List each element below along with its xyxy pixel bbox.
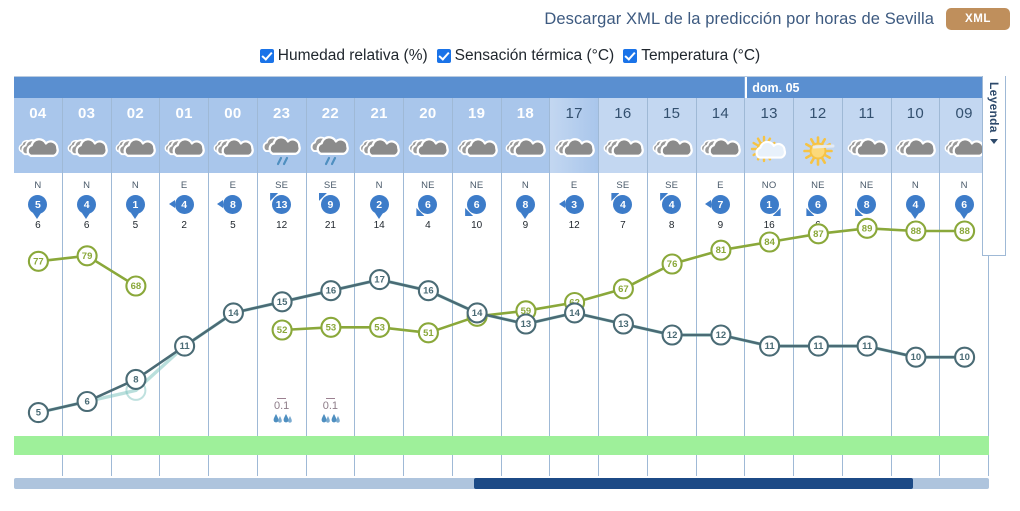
series-toggle-row: Humedad relativa (%) Sensación térmica (… [0, 43, 1020, 69]
wind-direction-label: N [132, 180, 139, 191]
wind-direction-label: SE [616, 180, 629, 191]
sky-rain-icon [258, 129, 306, 173]
wind-gust-value: 7 [620, 220, 626, 231]
hour-column[interactable]: 19 NE610 [453, 98, 502, 476]
download-bar: Descargar XML de la predicción por horas… [0, 0, 1020, 38]
wind-gust-value: 4 [425, 220, 431, 231]
precip-dash-icon [326, 398, 335, 400]
hour-column[interactable]: 16 SE47 [599, 98, 648, 476]
rain-drops-icon [271, 413, 293, 425]
wind-gust-value: 12 [569, 220, 580, 231]
hour-column[interactable]: 10 N412 [892, 98, 941, 476]
wind-direction-label: SE [324, 180, 337, 191]
sky-cloudy-icon [63, 129, 111, 173]
hour-column[interactable]: 13 NO116 [745, 98, 794, 476]
hour-column[interactable]: 21 N214 [355, 98, 404, 476]
hour-label: 02 [112, 98, 160, 129]
hour-label: 14 [697, 98, 745, 129]
wind-speed-badge: 8 [857, 195, 876, 214]
sky-cloudy-icon [404, 129, 452, 173]
hour-label: 12 [794, 98, 842, 129]
wind-arrow-icon [705, 200, 711, 208]
hour-label: 00 [209, 98, 257, 129]
wind-direction-label: NE [421, 180, 435, 191]
hour-label: 21 [355, 98, 403, 129]
checkbox-sensacion-termica[interactable] [437, 49, 451, 63]
wind-gust-value: 6 [35, 220, 41, 231]
hour-column[interactable]: 17 E312 [550, 98, 599, 476]
hour-label: 20 [404, 98, 452, 129]
wind-speed-badge: 1 [760, 195, 779, 214]
wind-speed-badge: 2 [370, 195, 389, 214]
wind-speed-badge: 4 [613, 195, 632, 214]
sky-cloudy-icon [14, 129, 62, 173]
checkbox-temperatura[interactable] [623, 49, 637, 63]
leyenda-panel-tab[interactable]: Leyenda [982, 76, 1006, 256]
wind-speed-badge: 6 [418, 195, 437, 214]
hour-label: 18 [502, 98, 550, 129]
date-band-day: dom. 05 [745, 77, 989, 98]
hour-column[interactable]: 04 N56 [14, 98, 63, 476]
sky-cloudy-icon [453, 129, 501, 173]
hour-label: 16 [599, 98, 647, 129]
wind-gust-value: 2 [181, 220, 187, 231]
wind-speed-value: 4 [175, 195, 194, 214]
wind-direction-label: NE [470, 180, 484, 191]
hour-label: 01 [160, 98, 208, 129]
wind-speed-badge: 4 [175, 195, 194, 214]
wind-speed-value: 1 [126, 195, 145, 214]
wind-direction-label: E [571, 180, 578, 191]
wind-speed-badge: 6 [808, 195, 827, 214]
wind-gust-value: 5 [230, 220, 236, 231]
wind-speed-value: 9 [321, 195, 340, 214]
wind-gust-value: 8 [669, 220, 675, 231]
wind-direction-label: SE [665, 180, 678, 191]
wind-gust-value: 16 [764, 220, 775, 231]
wind-direction-label: E [717, 180, 724, 191]
wind-speed-badge: 8 [516, 195, 535, 214]
download-xml-link[interactable]: Descargar XML de la predicción por horas… [544, 10, 934, 29]
wind-direction-label: N [912, 180, 919, 191]
wind-gust-value: 14 [374, 220, 385, 231]
wind-speed-value: 5 [28, 195, 47, 214]
label-sensacion-termica: Sensación térmica (°C) [455, 47, 615, 65]
toggle-sensacion-termica[interactable]: Sensación térmica (°C) [437, 47, 615, 65]
sky-cloudy-icon [940, 129, 988, 173]
hour-label: 22 [307, 98, 355, 129]
hour-column[interactable]: 01 E42 [160, 98, 209, 476]
wind-speed-value: 6 [467, 195, 486, 214]
wind-speed-badge: 1 [126, 195, 145, 214]
wind-speed-value: 7 [711, 195, 730, 214]
wind-gust-value: 6 [84, 220, 90, 231]
wind-speed-value: 1 [760, 195, 779, 214]
precip-value: 0.1 [274, 400, 289, 412]
wind-speed-badge: 13 [272, 195, 291, 214]
hourly-columns-grid[interactable]: 04 N5603 N4602 N1501 E4200 [14, 98, 989, 476]
wind-speed-badge: 4 [77, 195, 96, 214]
date-band-empty [14, 77, 745, 98]
hour-label: 10 [892, 98, 940, 129]
wind-speed-badge: 4 [662, 195, 681, 214]
wind-arrow-icon [169, 200, 175, 208]
date-band-label: dom. 05 [747, 81, 799, 95]
precip-dash-icon [277, 398, 286, 400]
wind-direction-label: N [961, 180, 968, 191]
hour-label: 23 [258, 98, 306, 129]
wind-speed-badge: 6 [467, 195, 486, 214]
sky-cloudy-icon [209, 129, 257, 173]
sky-cloudy-icon [892, 129, 940, 173]
wind-speed-badge: 9 [321, 195, 340, 214]
wind-direction-label: E [181, 180, 188, 191]
wind-gust-value: 6 [961, 220, 967, 231]
wind-direction-label: N [34, 180, 41, 191]
wind-speed-value: 4 [77, 195, 96, 214]
wind-speed-value: 4 [613, 195, 632, 214]
wind-speed-badge: 8 [223, 195, 242, 214]
label-humedad-relativa: Humedad relativa (%) [278, 47, 428, 65]
wind-gust-value: 21 [325, 220, 336, 231]
wind-speed-value: 8 [516, 195, 535, 214]
wind-direction-label: NO [762, 180, 777, 191]
wind-speed-value: 6 [418, 195, 437, 214]
hour-label: 17 [550, 98, 598, 129]
toggle-humedad-relativa[interactable]: Humedad relativa (%) [260, 47, 428, 65]
sky-cloudy-icon [697, 129, 745, 173]
wind-gust-value: 12 [910, 220, 921, 231]
hour-column[interactable]: 15 SE48 [648, 98, 697, 476]
rain-drops-icon [319, 413, 341, 425]
sky-sunny-icon [794, 129, 842, 173]
hour-column[interactable]: 11 NE810 [843, 98, 892, 476]
wind-speed-value: 4 [662, 195, 681, 214]
wind-speed-value: 2 [370, 195, 389, 214]
sky-cloudy-icon [550, 129, 598, 173]
sky-cloudy-icon [355, 129, 403, 173]
hour-label: 11 [843, 98, 891, 129]
wind-direction-label: N [522, 180, 529, 191]
wind-gust-value: 9 [523, 220, 529, 231]
precipitation-block: 0.1 [307, 398, 355, 426]
sky-cloudy-icon [599, 129, 647, 173]
wind-speed-value: 8 [857, 195, 876, 214]
hour-column[interactable]: 22 SE921 0.1 [307, 98, 356, 476]
sky-cloudy-icon [648, 129, 696, 173]
hour-column[interactable]: 14 E79 [697, 98, 746, 476]
precip-value: 0.1 [323, 400, 338, 412]
horizontal-scrollbar[interactable] [14, 478, 989, 489]
hour-label: 09 [940, 98, 988, 129]
sky-cloudy-icon [843, 129, 891, 173]
hour-label: 15 [648, 98, 696, 129]
hour-label: 03 [63, 98, 111, 129]
precipitation-block: 0.1 [258, 398, 306, 426]
wind-speed-value: 3 [565, 195, 584, 214]
hour-column[interactable]: 20 NE64 [404, 98, 453, 476]
wind-speed-value: 13 [272, 195, 291, 214]
hour-column[interactable]: 00 E85 [209, 98, 258, 476]
chevron-down-icon[interactable] [990, 139, 998, 144]
hour-column[interactable]: 02 N15 [112, 98, 161, 476]
checkbox-humedad-relativa[interactable] [260, 49, 274, 63]
toggle-temperatura[interactable]: Temperatura (°C) [623, 47, 760, 65]
sky-rain-icon [307, 129, 355, 173]
leyenda-label: Leyenda [987, 82, 1001, 133]
wind-direction-label: NE [860, 180, 874, 191]
label-temperatura: Temperatura (°C) [641, 47, 760, 65]
wind-gust-value: 5 [133, 220, 139, 231]
wind-arrow-icon [559, 200, 565, 208]
hourly-forecast-panel[interactable]: dom. 05 04 N5603 N4602 N1501 E4200 [14, 76, 989, 476]
wind-direction-label: SE [275, 180, 288, 191]
hour-column[interactable]: 18 N89 [502, 98, 551, 476]
wind-direction-label: N [83, 180, 90, 191]
xml-download-button[interactable]: XML [946, 8, 1010, 30]
scrollbar-thumb[interactable] [474, 478, 913, 489]
sky-partly-sunny-icon [745, 129, 793, 173]
hour-column[interactable]: 12 NE66 [794, 98, 843, 476]
wind-speed-badge: 4 [906, 195, 925, 214]
date-band: dom. 05 [14, 77, 989, 98]
wind-gust-value: 12 [276, 220, 287, 231]
wind-gust-value: 6 [815, 220, 821, 231]
wind-direction-label: NE [811, 180, 825, 191]
wind-speed-badge: 3 [565, 195, 584, 214]
wind-direction-label: N [376, 180, 383, 191]
wind-speed-badge: 6 [955, 195, 974, 214]
wind-speed-value: 8 [223, 195, 242, 214]
wind-speed-value: 4 [906, 195, 925, 214]
sky-cloudy-icon [502, 129, 550, 173]
wind-direction-label: E [230, 180, 237, 191]
wind-speed-badge: 5 [28, 195, 47, 214]
wind-speed-badge: 7 [711, 195, 730, 214]
wind-gust-value: 10 [861, 220, 872, 231]
wind-speed-value: 6 [808, 195, 827, 214]
hour-column[interactable]: 23 SE1312 0.1 [258, 98, 307, 476]
hour-label: 13 [745, 98, 793, 129]
sky-cloudy-icon [112, 129, 160, 173]
wind-gust-value: 10 [471, 220, 482, 231]
sky-cloudy-icon [160, 129, 208, 173]
hour-column[interactable]: 03 N46 [63, 98, 112, 476]
wind-gust-value: 9 [718, 220, 724, 231]
wind-speed-value: 6 [955, 195, 974, 214]
hour-label: 19 [453, 98, 501, 129]
hour-label: 04 [14, 98, 62, 129]
